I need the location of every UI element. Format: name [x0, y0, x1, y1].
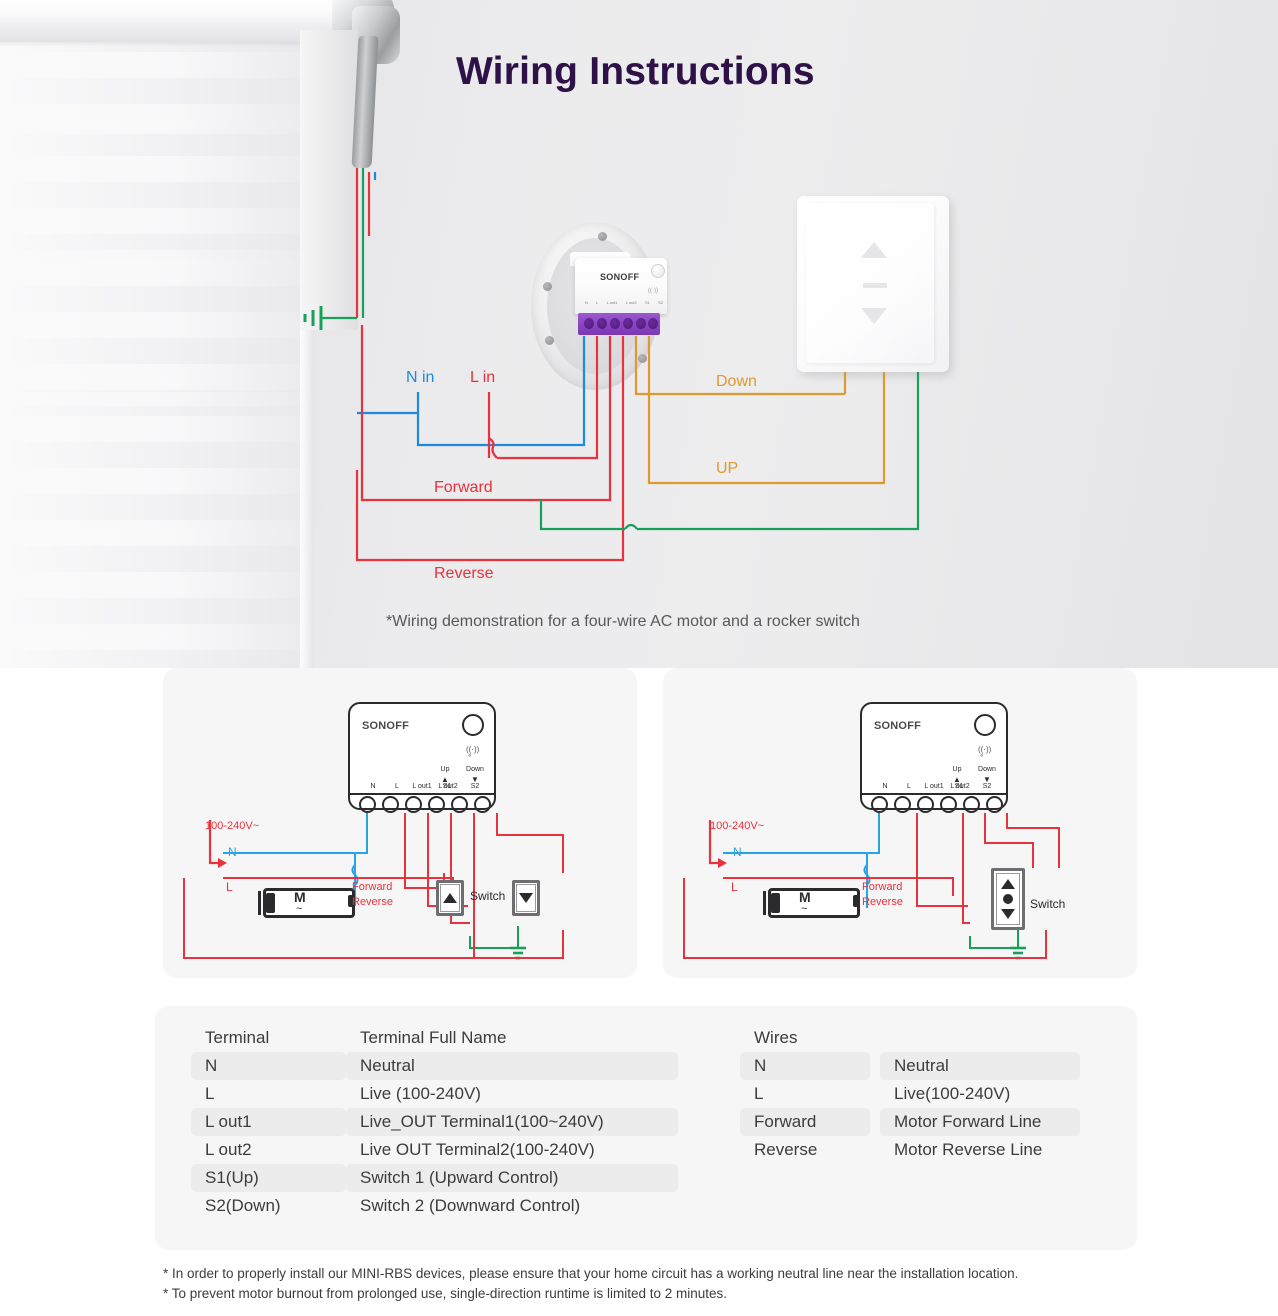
table-row: L Live (100-240V) — [191, 1080, 686, 1108]
motor-terminal-right — [853, 895, 860, 907]
terminal-fullname-cell: Live (100-240V) — [346, 1080, 678, 1108]
reverse-label-right: Reverse — [862, 896, 903, 908]
motor-body-right — [768, 888, 860, 918]
terminal-fullname-cell: Neutral — [346, 1052, 678, 1080]
motor-shaft-right — [763, 891, 766, 915]
wire-label-reverse: Reverse — [434, 565, 494, 583]
wire-fullname-cell: Neutral — [880, 1052, 1080, 1080]
wires-col-header: Wires — [740, 1024, 880, 1052]
voltage-label-left: 100-240V~ — [205, 820, 259, 832]
terminal-fullname-cell: Switch 2 (Downward Control) — [346, 1192, 678, 1220]
neutral-label-right: N — [733, 845, 742, 859]
table-row: Reverse Motor Reverse Line — [740, 1136, 1100, 1164]
forward-label-right: Forward — [862, 881, 902, 893]
wire-fullname-cell: Live(100-240V) — [880, 1080, 1080, 1108]
diagram-caption: *Wiring demonstration for a four-wire AC… — [386, 613, 860, 631]
footnote-neutral-line: * In order to properly install our MINI-… — [163, 1266, 1018, 1281]
wire-label-l-in: L in — [470, 369, 495, 387]
table-row: L Live(100-240V) — [740, 1080, 1100, 1108]
terminal-col-header: Terminal — [191, 1024, 346, 1052]
hero-illustration: SONOFF ((·)) N L L out1 L out2 S1 S2 — [0, 0, 1278, 668]
terminal-cell: L out2 — [191, 1136, 346, 1164]
forward-label-left: Forward — [352, 881, 392, 893]
footnote-runtime-limit: * To prevent motor burnout from prolonge… — [163, 1286, 727, 1301]
table-row: N Neutral — [191, 1052, 686, 1080]
table-row: L out1 Live_OUT Terminal1(100~240V) — [191, 1108, 686, 1136]
motor-symbol-right: M — [799, 891, 811, 904]
switch-stop-dot-icon-right[interactable] — [1003, 894, 1013, 904]
wire-cell: Forward — [740, 1108, 870, 1136]
switch-up-arrow-icon-right[interactable] — [1001, 879, 1015, 889]
table-row: S1(Up) Switch 1 (Upward Control) — [191, 1164, 686, 1192]
terminal-table: Terminal Terminal Full Name N Neutral L … — [191, 1024, 686, 1220]
wire-cell: N — [740, 1052, 870, 1080]
terminal-fullname-col-header: Terminal Full Name — [346, 1024, 686, 1052]
wires-table: Wires N Neutral L Live(100-240V) Forward… — [740, 1024, 1100, 1164]
terminal-cell: N — [191, 1052, 346, 1080]
reference-tables-card: Terminal Terminal Full Name N Neutral L … — [155, 1006, 1137, 1250]
switch-down-arrow-icon-right[interactable] — [1001, 909, 1015, 919]
motor-ac-symbol-left: ~ — [296, 906, 302, 913]
switch-up-arrow-icon-left[interactable] — [443, 893, 457, 903]
wire-fullname-cell: Motor Forward Line — [880, 1108, 1080, 1136]
motor-endcap-left — [266, 893, 275, 913]
switch-caption-left: Switch — [470, 889, 505, 903]
voltage-label-right: 100-240V~ — [710, 820, 764, 832]
terminal-cell: L — [191, 1080, 346, 1108]
terminal-table-header: Terminal Terminal Full Name — [191, 1024, 686, 1052]
neutral-label-left: N — [228, 845, 237, 859]
switch-down-arrow-icon-left[interactable] — [519, 893, 533, 903]
reverse-label-left: Reverse — [352, 896, 393, 908]
wire-label-n-in: N in — [406, 369, 434, 387]
motor-body-left — [263, 888, 355, 918]
terminal-cell: S1(Up) — [191, 1164, 346, 1192]
page-title: Wiring Instructions — [456, 50, 815, 94]
table-row: S2(Down) Switch 2 (Downward Control) — [191, 1192, 686, 1220]
switch-caption-right: Switch — [1030, 897, 1065, 911]
wires-table-header: Wires — [740, 1024, 1100, 1052]
hero-wiring-overlay — [0, 0, 1278, 668]
terminal-cell: L out1 — [191, 1108, 346, 1136]
wire-cell: L — [740, 1080, 870, 1108]
motor-symbol-left: M — [294, 891, 306, 904]
wire-fullname-cell: Motor Reverse Line — [880, 1136, 1080, 1164]
motor-endcap-right — [771, 893, 780, 913]
motor-shaft-left — [258, 891, 261, 915]
table-row: L out2 Live OUT Terminal2(100-240V) — [191, 1136, 686, 1164]
wires-fullname-col-header — [880, 1024, 1090, 1052]
live-label-left: L — [226, 880, 233, 894]
terminal-fullname-cell: Switch 1 (Upward Control) — [346, 1164, 678, 1192]
wire-cell: Reverse — [740, 1136, 870, 1164]
wire-label-down: Down — [716, 373, 757, 391]
wire-label-up: UP — [716, 460, 738, 478]
table-row: Forward Motor Forward Line — [740, 1108, 1100, 1136]
live-label-right: L — [731, 880, 738, 894]
table-row: N Neutral — [740, 1052, 1100, 1080]
terminal-cell: S2(Down) — [191, 1192, 346, 1220]
motor-ac-symbol-right: ~ — [801, 906, 807, 913]
wire-label-forward: Forward — [434, 479, 493, 497]
terminal-fullname-cell: Live OUT Terminal2(100-240V) — [346, 1136, 678, 1164]
terminal-fullname-cell: Live_OUT Terminal1(100~240V) — [346, 1108, 678, 1136]
